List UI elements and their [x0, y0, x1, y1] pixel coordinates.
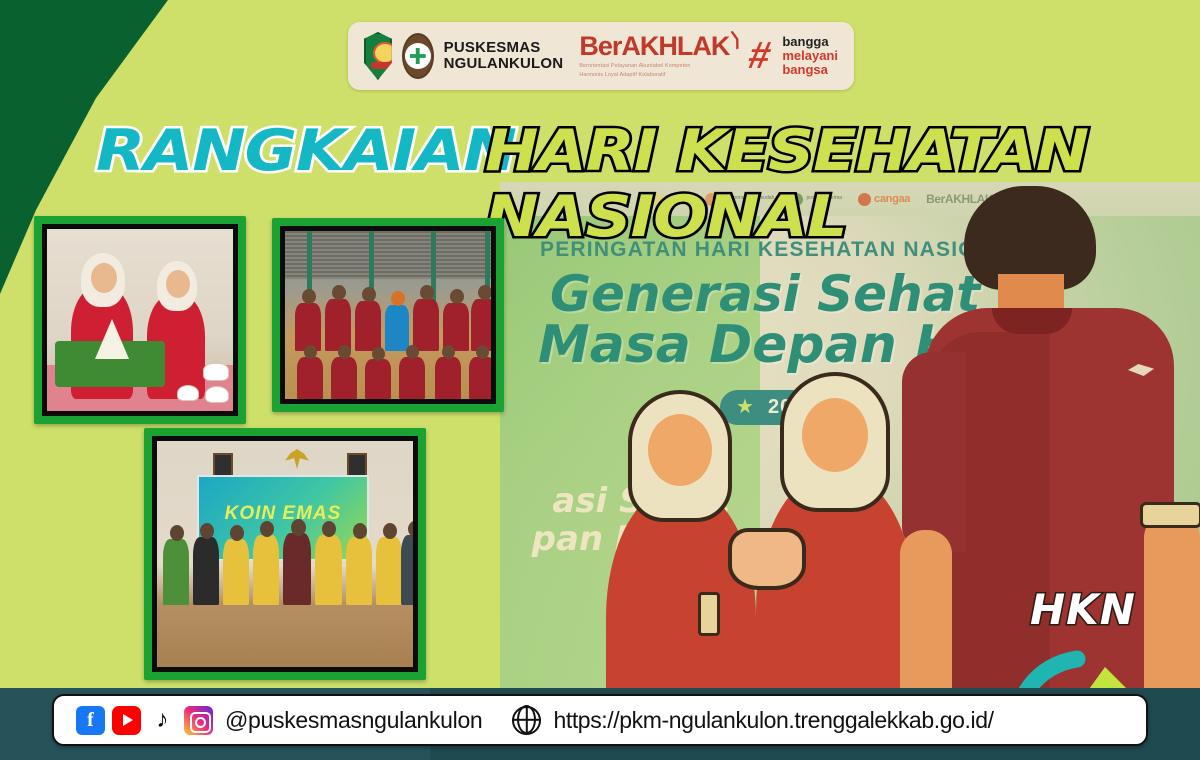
social-handle[interactable]: @puskesmasngulankulon [225, 707, 482, 734]
photo-person-head [383, 523, 397, 539]
photo-person-head [200, 523, 214, 539]
photo-player-head [406, 345, 419, 359]
clinic-name-line2: NGULANKULON [444, 56, 564, 72]
photo-person-head [322, 521, 336, 537]
photo-player [471, 299, 496, 351]
poster-canvas: asi Sehat pan Hebat kemenkes muhammad ja… [0, 0, 1200, 760]
photo-player-head [332, 285, 346, 300]
photo-player [331, 357, 357, 399]
photo-player-head [478, 285, 492, 300]
berakhlak-subtitle: Berorientasi Pelayanan Akuntabel Kompete… [579, 62, 729, 78]
photo-player [297, 357, 323, 399]
bangga-line1: bangga [782, 35, 838, 49]
photo-player [355, 301, 381, 351]
photo-player [413, 299, 439, 351]
photo-player [385, 305, 409, 351]
photo-card-koin-emas: KOIN EMAS [144, 428, 426, 680]
photo-player-head [476, 345, 489, 359]
hashtag-icon: # [746, 40, 781, 72]
berakhlak-sub-line1: Berorientasi Pelayanan Akuntabel Kompete… [579, 62, 729, 70]
photo-player-head [372, 347, 385, 361]
website-url[interactable]: https://pkm-ngulankulon.trenggalekkab.go… [553, 707, 993, 734]
globe-icon [512, 706, 541, 735]
photo-player-head [442, 345, 455, 359]
photo-person [253, 535, 279, 605]
photo-player [365, 359, 391, 399]
shield-emblem [373, 42, 397, 64]
photo-person-head [230, 525, 244, 541]
photo-person-head [291, 519, 306, 536]
puskesmas-seal-icon [402, 33, 434, 79]
photo-player-head [450, 289, 464, 304]
photo-face [91, 263, 117, 293]
clinic-name: PUSKESMAS NGULANKULON [444, 40, 564, 72]
photo-person [401, 535, 418, 605]
screen-title-text: KOIN EMAS [199, 503, 367, 525]
photo-player-head [304, 345, 317, 359]
photo-player-head [362, 287, 376, 302]
photo-player [399, 357, 425, 399]
shield-ribbon [371, 62, 399, 69]
woman-right-face [802, 398, 868, 472]
woman-left-face [648, 414, 712, 486]
photo-person-head [170, 525, 184, 541]
berakhlak-logo: BerAKHLAK ⟩ Berorientasi Pelayanan Akunt… [579, 33, 729, 78]
bangga-melayani-bangsa-logo: # bangga melayani bangsa [749, 35, 838, 77]
photo-player-head [391, 291, 405, 306]
hkn-wordmark: HKN [1030, 585, 1136, 634]
photo-person-head [260, 521, 274, 537]
photo-player-head [338, 345, 351, 359]
berakhlak-sub-line2: Harmonis Loyal Adaptif Kolaboratif [579, 71, 729, 79]
photo-player [443, 303, 469, 351]
globe-meridian [517, 705, 536, 734]
tiktok-icon[interactable]: ♪ [148, 706, 177, 735]
photo-person [283, 533, 311, 605]
photo-person-head [353, 523, 367, 539]
photo-card-tumpeng [34, 216, 246, 424]
photo-teacup [177, 385, 199, 401]
photo-player-head [302, 289, 316, 304]
photo-person-head [408, 521, 418, 537]
heart-hands-icon [728, 528, 806, 590]
contact-footer-bar: f ♪ @puskesmasngulankulon https://pkm-ng… [52, 694, 1148, 746]
bangga-text: bangga melayani bangsa [782, 35, 838, 77]
youtube-icon[interactable] [112, 706, 141, 735]
photo-player [469, 357, 495, 399]
photo-player [435, 357, 461, 399]
photo-teacup [205, 386, 229, 403]
photo-person [376, 537, 402, 605]
photo-person [315, 535, 342, 605]
photo-portrait-frame [347, 453, 367, 477]
bangga-line2: melayani [782, 49, 838, 63]
page-title: RANGKAIAN HARI KESEHATAN NASIONAL [96, 118, 1200, 250]
id-card-badge [698, 592, 720, 636]
photo-player [325, 299, 351, 351]
clinic-name-line1: PUSKESMAS [444, 40, 564, 56]
photo-court-roof [285, 231, 491, 279]
instagram-icon[interactable] [184, 706, 213, 735]
photo-frame [280, 226, 496, 404]
title-part-rangkaian: RANGKAIAN [96, 118, 516, 184]
medical-cross-icon [405, 43, 431, 69]
hkn-illustration-panel: asi Sehat pan Hebat kemenkes muhammad ja… [500, 182, 1200, 760]
man-left-sleeve [902, 352, 966, 552]
photo-player-head [420, 285, 434, 300]
facebook-icon[interactable]: f [76, 706, 105, 735]
man-left-arm [900, 530, 952, 710]
institution-logo-bar: PUSKESMAS NGULANKULON BerAKHLAK ⟩ Berori… [348, 22, 854, 90]
photo-person [346, 537, 372, 605]
photo-person [193, 537, 219, 605]
photo-teapot [203, 363, 229, 381]
photo-card-futsal [272, 218, 504, 412]
bangga-line3: bangsa [782, 63, 838, 77]
photo-person [163, 539, 189, 605]
social-icons-group: f ♪ [76, 706, 213, 735]
man-wrist-band [1140, 502, 1200, 528]
title-part-hari-kesehatan-nasional: HARI KESEHATAN NASIONAL [485, 118, 1200, 250]
photo-frame [42, 224, 238, 416]
photo-face [166, 270, 190, 298]
photo-person [223, 539, 249, 605]
chevron-right-icon: ⟩ [728, 27, 743, 53]
berakhlak-title: BerAKHLAK [579, 33, 729, 60]
photo-frame: KOIN EMAS [152, 436, 418, 672]
trenggalek-shield-icon [364, 32, 392, 80]
photo-portrait-frame [213, 453, 233, 477]
photo-rice-cone [95, 319, 129, 359]
photo-player [295, 303, 321, 351]
